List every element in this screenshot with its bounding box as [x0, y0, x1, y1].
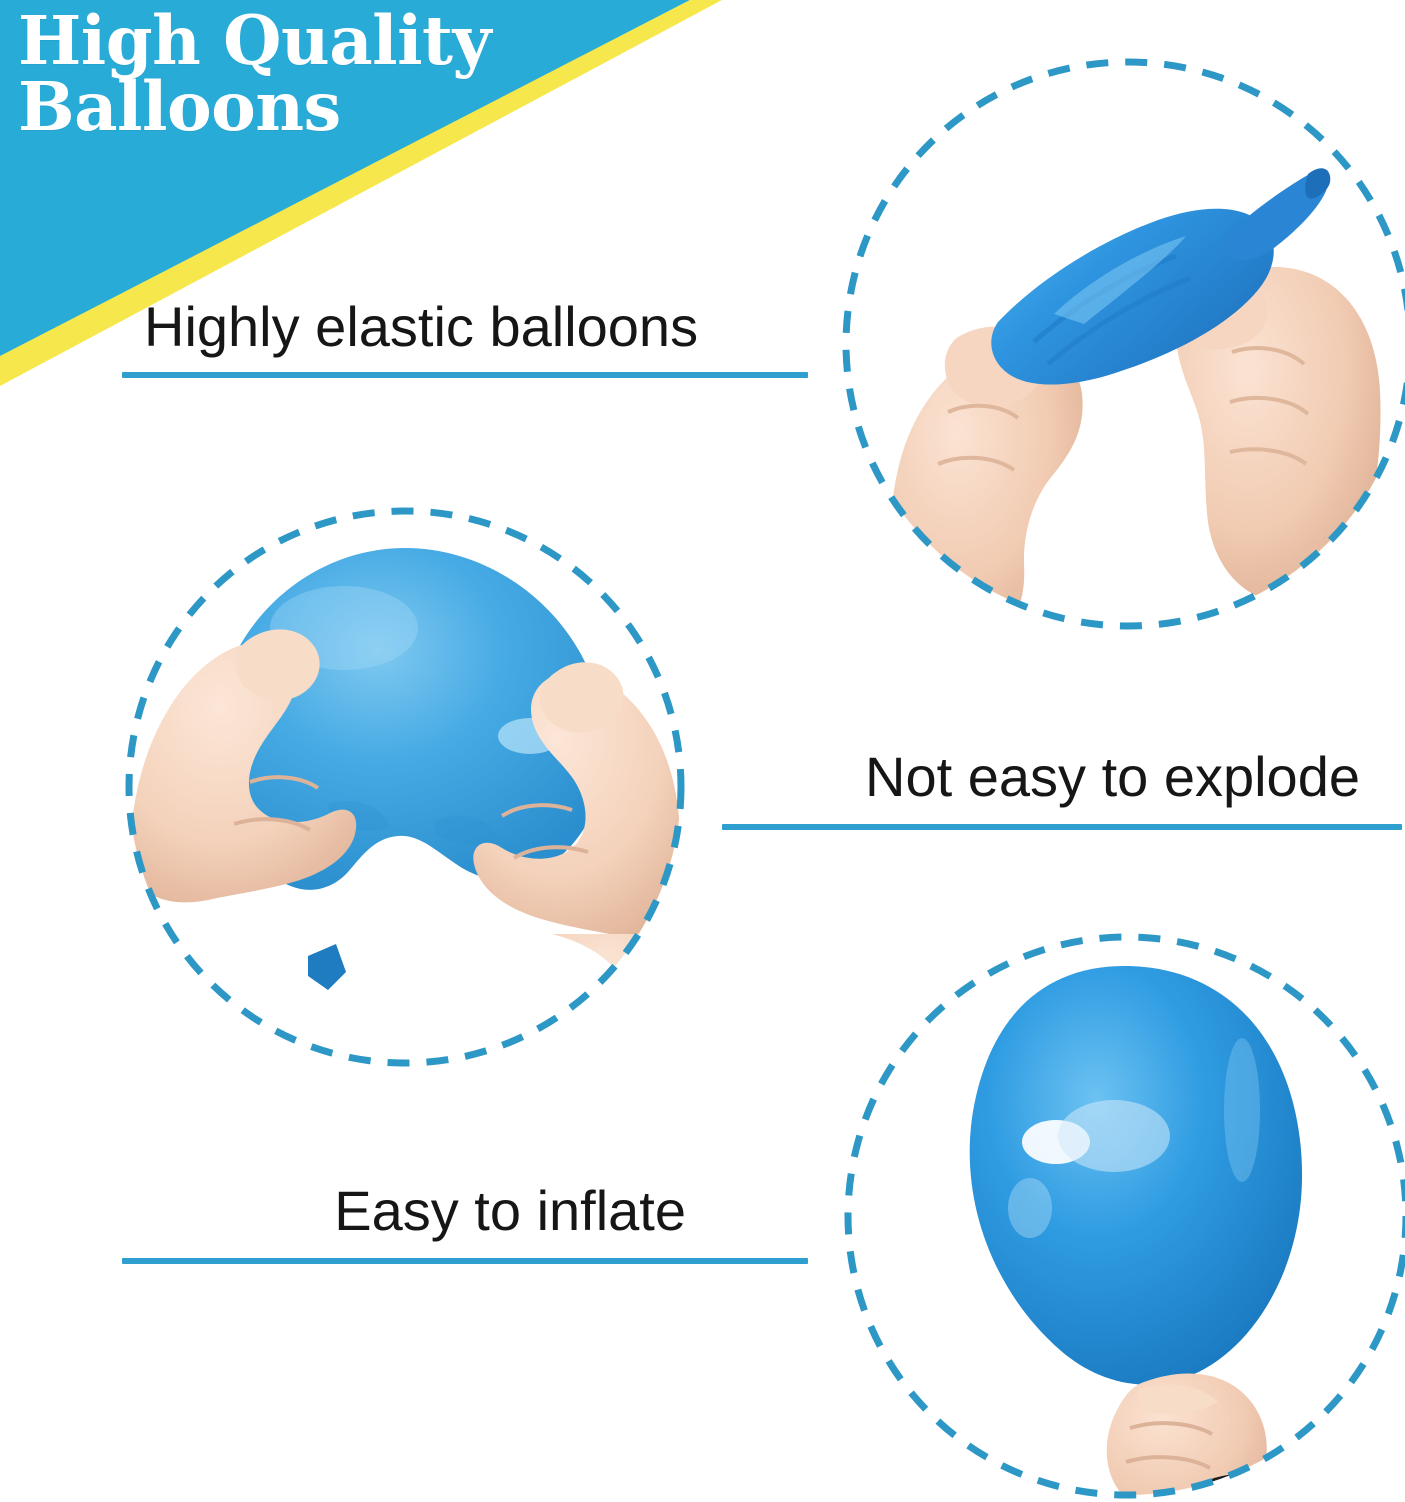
feature-underline-easy-to-inflate [122, 1258, 808, 1264]
photo-stretch-artwork [838, 52, 1405, 637]
balloon-highlight-small [1008, 1178, 1052, 1238]
photo-squeeze-balloon [122, 504, 688, 1082]
feature-label-highly-elastic: Highly elastic balloons [122, 298, 808, 356]
infographic-canvas: High Quality Balloons Highly elastic bal… [0, 0, 1405, 1500]
feature-underline-highly-elastic [122, 372, 808, 378]
feature-underline-not-easy-to-explode [722, 824, 1402, 830]
photo-stretch-balloon [838, 52, 1405, 637]
photo-inflated-artwork [838, 930, 1405, 1502]
feature-caption-easy-to-inflate: Easy to inflate [122, 1182, 808, 1264]
feature-label-not-easy-to-explode: Not easy to explode [722, 748, 1402, 806]
photo-inflated-balloon [838, 930, 1405, 1502]
feature-label-easy-to-inflate: Easy to inflate [122, 1182, 808, 1240]
feature-caption-not-easy-to-explode: Not easy to explode [722, 748, 1402, 830]
photo-squeeze-artwork [122, 504, 688, 1082]
page-title: High Quality Balloons [18, 8, 578, 139]
balloon-sheen-right [1224, 1038, 1260, 1182]
balloon-highlight-soft [1058, 1100, 1170, 1172]
left-index-finger [236, 629, 320, 700]
feature-caption-highly-elastic: Highly elastic balloons [122, 298, 808, 378]
squeeze-photo-content [122, 504, 688, 1090]
pump-nozzle [1204, 1473, 1296, 1502]
